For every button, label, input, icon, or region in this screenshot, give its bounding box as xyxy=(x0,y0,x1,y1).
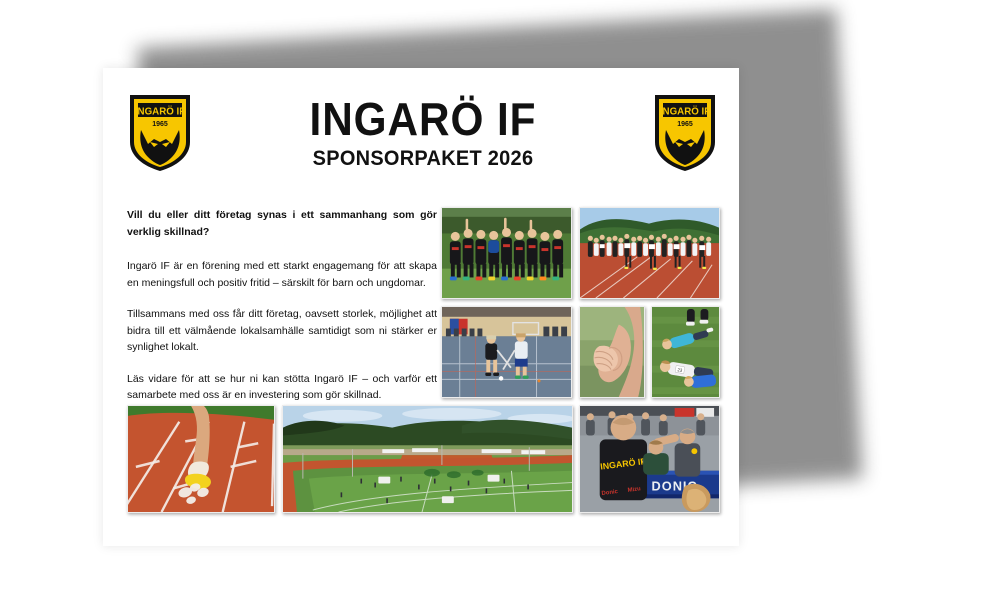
intro-lead-paragraph: Vill du eller ditt företag synas i ett s… xyxy=(127,207,437,240)
svg-text:INGARÖ IF: INGARÖ IF xyxy=(135,104,185,117)
svg-text:INGARÖ IF: INGARÖ IF xyxy=(660,104,710,117)
title-block: INGARÖ IF SPONSORPAKET 2026 xyxy=(263,94,583,171)
intro-paragraph-3: Läs vidare för att se hur ni kan stötta … xyxy=(127,371,437,404)
brochure-page: INGARÖ IF 1965 INGARÖ IF SPONSORPAKET 20… xyxy=(103,68,739,546)
photo-kids-lying-on-grass: 23 xyxy=(651,306,720,398)
screenshot-canvas: INGARÖ IF 1965 INGARÖ IF SPONSORPAKET 20… xyxy=(0,0,1000,600)
svg-text:1965: 1965 xyxy=(677,121,693,128)
page-title: INGARÖ IF xyxy=(276,94,570,144)
ingaro-if-crest-left: INGARÖ IF 1965 xyxy=(127,92,193,174)
intro-text-column: Vill du eller ditt företag synas i ett s… xyxy=(127,207,437,404)
svg-text:1965: 1965 xyxy=(152,121,168,128)
page-subtitle: SPONSORPAKET 2026 xyxy=(271,147,575,171)
photo-adult-child-hands xyxy=(579,306,645,398)
photo-aerial-sports-facility xyxy=(282,405,573,513)
intro-paragraph-2: Tillsammans med oss får ditt företag, oa… xyxy=(127,306,437,356)
photo-runner-legs-on-track xyxy=(127,405,275,513)
intro-paragraph-1: Ingarö IF är en förening med ett starkt … xyxy=(127,258,437,291)
photo-indoor-floorball-match xyxy=(441,306,572,398)
page-header: INGARÖ IF 1965 INGARÖ IF SPONSORPAKET 20… xyxy=(103,92,739,184)
photo-running-race-start xyxy=(579,207,720,299)
ingaro-if-crest-right: INGARÖ IF 1965 xyxy=(652,92,718,174)
photo-table-tennis-event: DONIC INGARÖ IF Donic Mizu xyxy=(579,405,720,513)
photo-youth-football-team xyxy=(441,207,572,299)
